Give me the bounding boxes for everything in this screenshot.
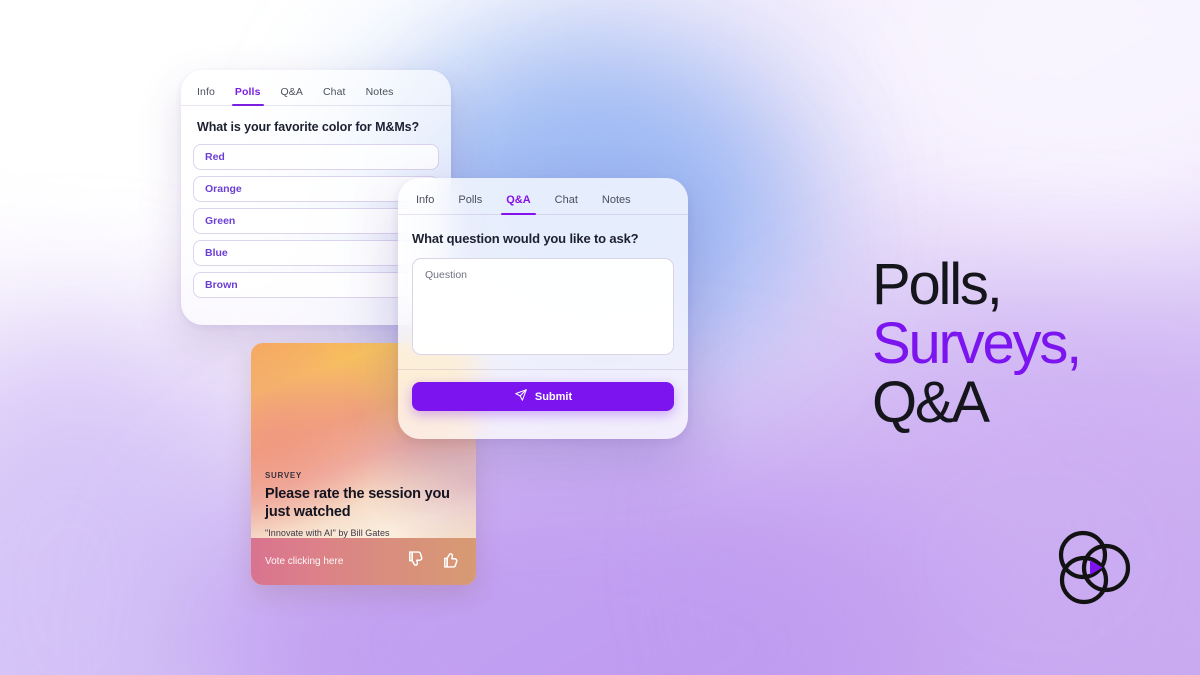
survey-vote-bar: Vote clicking here	[251, 538, 476, 585]
thumbs-down-icon[interactable]	[406, 549, 427, 575]
question-input[interactable]: Question	[412, 258, 674, 355]
tab-polls[interactable]: Polls	[235, 86, 261, 105]
poll-question: What is your favorite color for M&Ms?	[181, 106, 451, 134]
headline-line-surveys: Surveys,	[872, 314, 1080, 373]
survey-subtitle: "Innovate with AI" by Bill Gates	[265, 528, 462, 538]
tab-info[interactable]: Info	[197, 86, 215, 105]
tab-chat[interactable]: Chat	[323, 86, 346, 105]
headline-line-qa: Q&A	[872, 373, 1080, 432]
qa-question-prompt: What question would you like to ask?	[398, 215, 688, 246]
polls-tab-bar: Info Polls Q&A Chat Notes	[181, 70, 451, 106]
qa-card: Info Polls Q&A Chat Notes What question …	[398, 178, 688, 439]
vote-instruction-label: Vote clicking here	[265, 556, 343, 567]
survey-title: Please rate the session you just watched	[265, 485, 462, 522]
survey-kicker: SURVEY	[265, 471, 462, 480]
thumbs-up-icon[interactable]	[441, 549, 462, 575]
headline-line-polls: Polls,	[872, 255, 1080, 314]
poll-option-red[interactable]: Red	[193, 144, 439, 170]
survey-card-body: SURVEY Please rate the session you just …	[251, 471, 476, 538]
qa-tab-bar: Info Polls Q&A Chat Notes	[398, 178, 688, 215]
three-circles-logo	[1053, 528, 1135, 610]
qa-tab-info[interactable]: Info	[416, 194, 434, 214]
qa-tab-polls[interactable]: Polls	[458, 194, 482, 214]
vote-icon-group	[406, 549, 462, 575]
qa-tab-chat[interactable]: Chat	[555, 194, 578, 214]
qa-tab-notes[interactable]: Notes	[602, 194, 631, 214]
tab-qa[interactable]: Q&A	[281, 86, 303, 105]
qa-tab-qa[interactable]: Q&A	[506, 194, 530, 214]
send-icon	[514, 388, 528, 405]
headline: Polls, Surveys, Q&A	[872, 255, 1080, 432]
qa-submit-area: Submit	[398, 370, 688, 411]
submit-button-label: Submit	[535, 391, 572, 403]
submit-button[interactable]: Submit	[412, 382, 674, 411]
tab-notes[interactable]: Notes	[366, 86, 394, 105]
